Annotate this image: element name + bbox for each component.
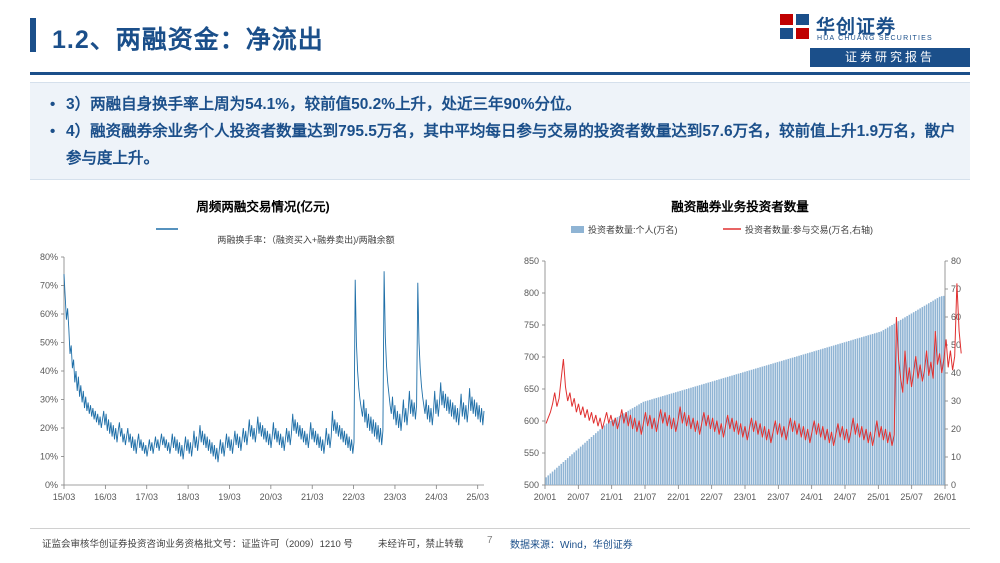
- svg-text:26/01: 26/01: [934, 492, 957, 502]
- svg-text:30%: 30%: [40, 395, 58, 405]
- svg-text:17/03: 17/03: [135, 492, 158, 502]
- svg-text:40%: 40%: [40, 366, 58, 376]
- svg-text:70%: 70%: [40, 281, 58, 291]
- svg-text:700: 700: [524, 352, 539, 362]
- svg-text:20/01: 20/01: [534, 492, 557, 502]
- svg-text:800: 800: [524, 288, 539, 298]
- svg-text:23/03: 23/03: [384, 492, 407, 502]
- svg-text:0: 0: [951, 480, 956, 490]
- svg-text:650: 650: [524, 384, 539, 394]
- slide-header: 1.2、两融资金：净流出 华创证券 HUA CHUANG SECURITIES …: [0, 0, 1000, 76]
- svg-text:600: 600: [524, 416, 539, 426]
- page-title: 1.2、两融资金：净流出: [52, 20, 324, 56]
- svg-text:22/01: 22/01: [667, 492, 690, 502]
- logo-company-name-en: HUA CHUANG SECURITIES: [817, 35, 933, 42]
- svg-text:23/01: 23/01: [734, 492, 757, 502]
- svg-text:18/03: 18/03: [177, 492, 200, 502]
- svg-text:50%: 50%: [40, 338, 58, 348]
- svg-text:25/07: 25/07: [900, 492, 923, 502]
- svg-text:500: 500: [524, 480, 539, 490]
- svg-text:投资者数量:个人(万名): 投资者数量:个人(万名): [588, 224, 678, 235]
- svg-text:20: 20: [951, 424, 961, 434]
- svg-text:24/07: 24/07: [834, 492, 857, 502]
- svg-text:两融换手率：（融资买入+融券卖出)/两融余额: 两融换手率：（融资买入+融券卖出)/两融余额: [217, 234, 394, 245]
- svg-text:23/07: 23/07: [767, 492, 790, 502]
- footer-license-text: 证监会审核华创证券投资咨询业务资格批文号：证监许可（2009）1210 号: [42, 536, 353, 550]
- bullet-marker: •: [50, 118, 55, 145]
- svg-text:10: 10: [951, 452, 961, 462]
- svg-text:20/03: 20/03: [260, 492, 283, 502]
- svg-text:20%: 20%: [40, 423, 58, 433]
- bullet-text: 3）两融自身换手率上周为54.1%，较前值50.2%上升，处近三年90%分位。: [66, 96, 581, 113]
- svg-text:24/03: 24/03: [425, 492, 448, 502]
- svg-text:16/03: 16/03: [94, 492, 117, 502]
- chart-margin-turnover: 周频两融交易情况(亿元) 0%10%20%30%40%50%60%70%80%1…: [28, 196, 498, 526]
- svg-text:750: 750: [524, 320, 539, 330]
- bullet-marker: •: [50, 91, 55, 118]
- chart-left-canvas: 0%10%20%30%40%50%60%70%80%15/0316/0317/0…: [28, 215, 498, 525]
- footer-divider: [30, 528, 970, 529]
- bullet-item: • 4）融资融券余业务个人投资者数量达到795.5万名，其中平均每日参与交易的投…: [30, 118, 970, 172]
- svg-text:60%: 60%: [40, 309, 58, 319]
- bullet-text: 4）融资融券余业务个人投资者数量达到795.5万名，其中平均每日参与交易的投资者…: [66, 123, 956, 167]
- svg-text:850: 850: [524, 256, 539, 266]
- svg-text:30: 30: [951, 396, 961, 406]
- svg-text:70: 70: [951, 284, 961, 294]
- svg-text:50: 50: [951, 340, 961, 350]
- header-divider: [30, 72, 970, 75]
- svg-text:投资者数量:参与交易(万名,右轴): 投资者数量:参与交易(万名,右轴): [745, 224, 873, 235]
- svg-text:19/03: 19/03: [218, 492, 241, 502]
- logo-report-tag: 证券研究报告: [810, 48, 970, 67]
- svg-text:20/07: 20/07: [567, 492, 590, 502]
- company-logo: 华创证券 HUA CHUANG SECURITIES 证券研究报告: [780, 12, 970, 64]
- bullet-item: • 3）两融自身换手率上周为54.1%，较前值50.2%上升，处近三年90%分位…: [30, 91, 970, 118]
- chart-right-canvas: 5005506006507007508008500102030405060708…: [505, 215, 975, 525]
- svg-text:21/01: 21/01: [600, 492, 623, 502]
- svg-text:21/07: 21/07: [634, 492, 657, 502]
- summary-bullets: • 3）两融自身换手率上周为54.1%，较前值50.2%上升，处近三年90%分位…: [30, 82, 970, 180]
- page-number: 7: [487, 535, 493, 546]
- svg-text:22/03: 22/03: [342, 492, 365, 502]
- svg-text:550: 550: [524, 448, 539, 458]
- chart-title-right: 融资融券业务投资者数量: [505, 196, 975, 215]
- svg-text:10%: 10%: [40, 452, 58, 462]
- title-accent-bar: [30, 18, 36, 52]
- svg-text:0%: 0%: [45, 480, 58, 490]
- svg-text:21/03: 21/03: [301, 492, 324, 502]
- chart-title-left: 周频两融交易情况(亿元): [28, 196, 498, 215]
- logo-mark-icon: [780, 14, 810, 40]
- footer-copyright-text: 未经许可，禁止转载: [378, 536, 464, 550]
- svg-text:25/01: 25/01: [867, 492, 890, 502]
- svg-text:22/07: 22/07: [700, 492, 723, 502]
- svg-text:80: 80: [951, 256, 961, 266]
- svg-text:24/01: 24/01: [800, 492, 823, 502]
- chart-investor-count: 融资融券业务投资者数量 5005506006507007508008500102…: [505, 196, 975, 526]
- footer-source-text: 数据来源：Wind，华创证券: [510, 536, 633, 551]
- svg-text:25/03: 25/03: [466, 492, 489, 502]
- svg-text:80%: 80%: [40, 252, 58, 262]
- svg-text:15/03: 15/03: [53, 492, 76, 502]
